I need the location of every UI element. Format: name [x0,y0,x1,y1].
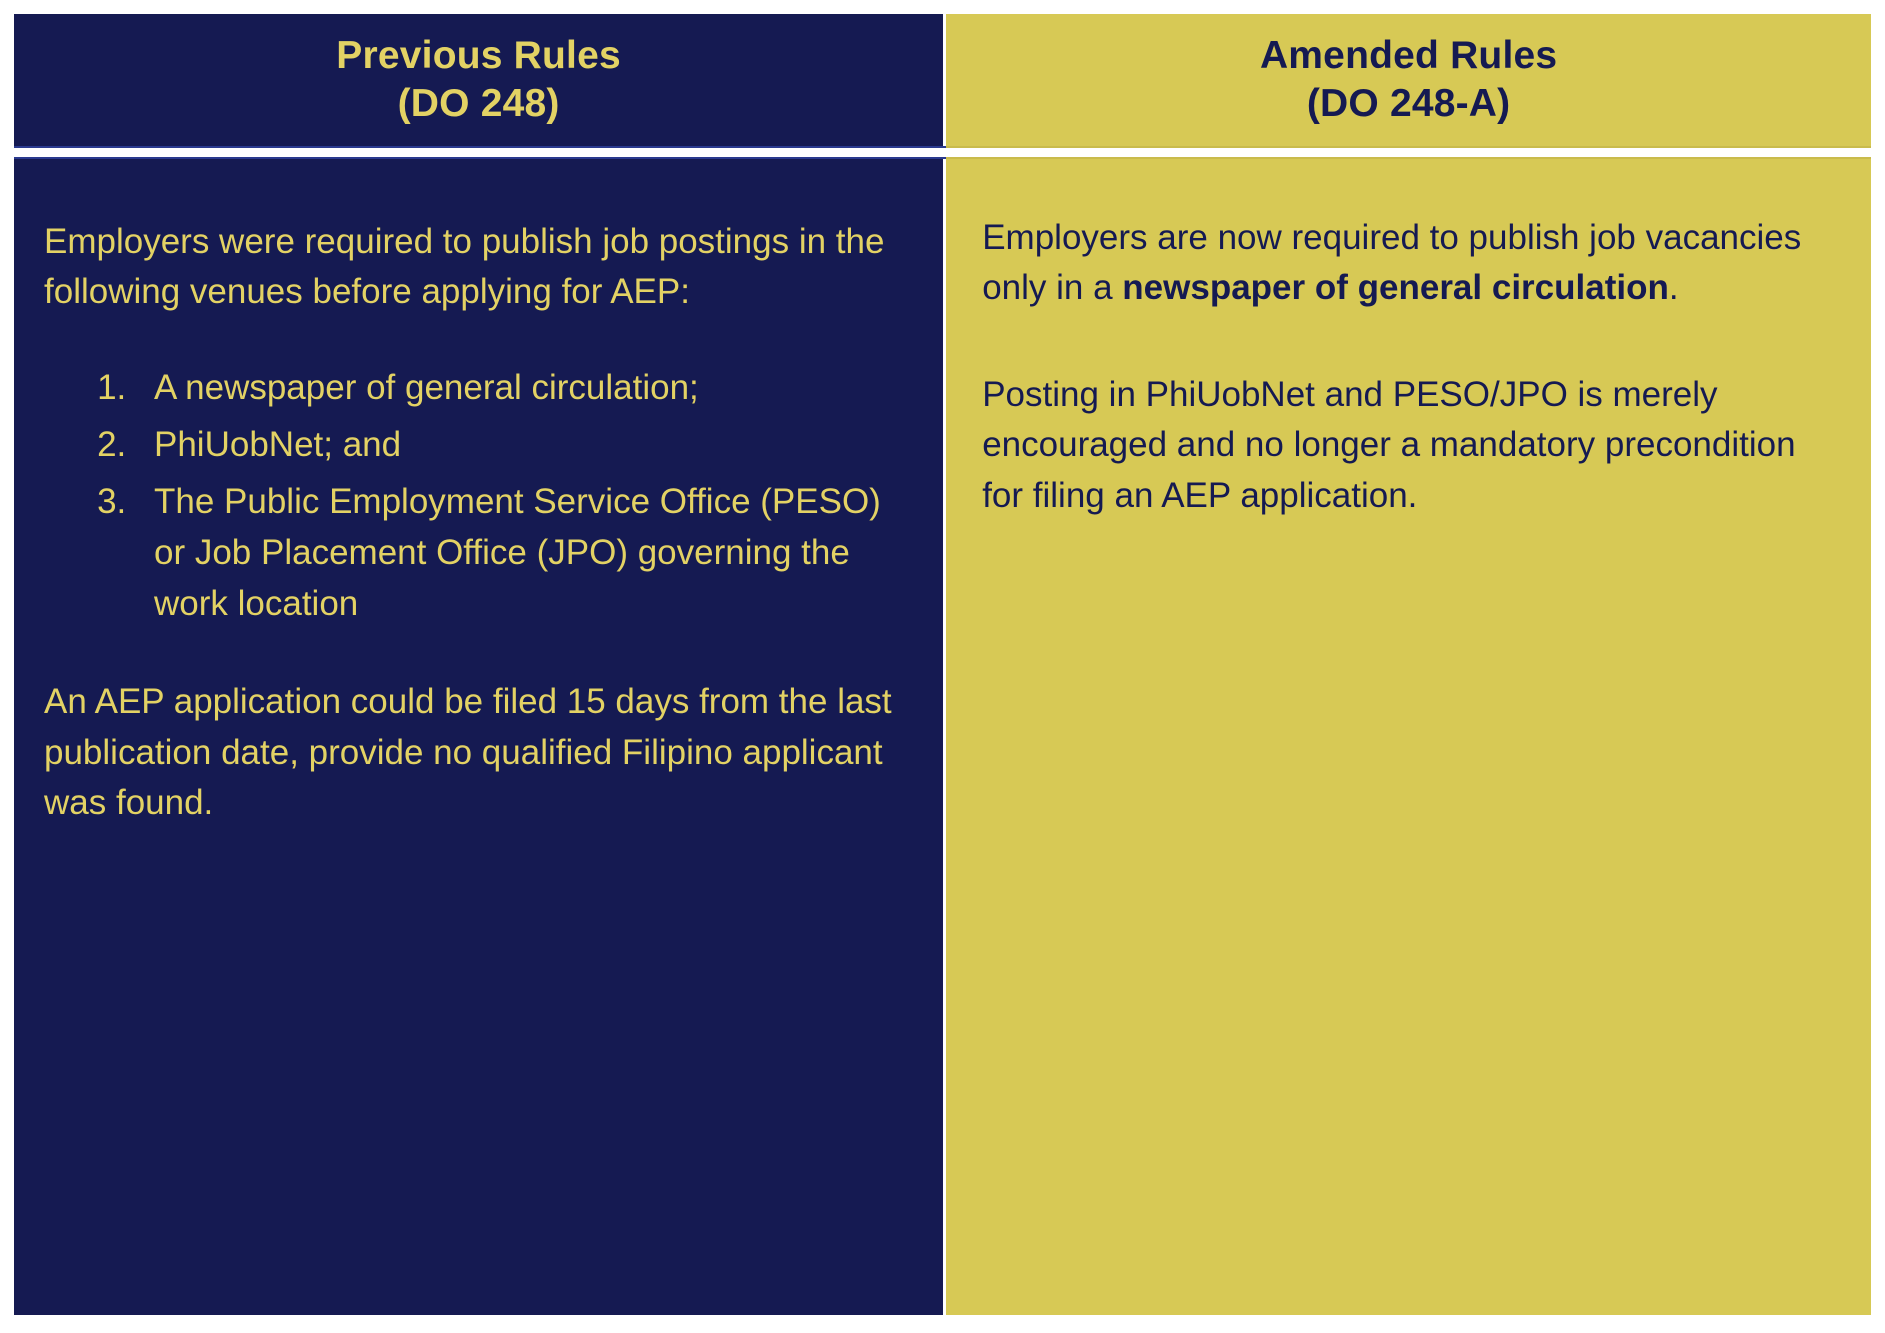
comparison-table-container: Previous Rules (DO 248) Amended Rules (D… [0,0,1885,1333]
list-item: PhiUobNet; and [136,419,909,470]
header-previous-title: Previous Rules [24,32,933,80]
header-body-separator-row [14,146,1871,159]
header-previous-subtitle: (DO 248) [24,80,933,128]
previous-rules-list: A newspaper of general circulation; PhiU… [44,362,909,629]
header-amended-rules: Amended Rules (DO 248-A) [946,14,1871,146]
cell-previous-rules: Employers were required to publish job p… [14,159,946,1315]
amended-paragraph-1: Employers are now required to publish jo… [982,213,1837,314]
list-item: A newspaper of general circulation; [136,362,909,413]
header-amended-subtitle: (DO 248-A) [956,80,1861,128]
table-body-row: Employers were required to publish job p… [14,159,1871,1315]
amended-paragraph-1-emphasis: newspaper of general circulation [1122,268,1669,307]
table-header-row: Previous Rules (DO 248) Amended Rules (D… [14,14,1871,146]
rules-comparison-table: Previous Rules (DO 248) Amended Rules (D… [14,14,1871,1315]
separator-previous [14,146,946,159]
header-amended-title: Amended Rules [956,32,1861,80]
separator-amended [946,146,1871,159]
amended-paragraph-2: Posting in PhiUobNet and PESO/JPO is mer… [982,370,1837,521]
cell-amended-rules: Employers are now required to publish jo… [946,159,1871,1315]
previous-closing-paragraph: An AEP application could be filed 15 day… [44,677,909,828]
header-previous-rules: Previous Rules (DO 248) [14,14,946,146]
previous-intro-paragraph: Employers were required to publish job p… [44,217,909,318]
amended-paragraph-1-tail: . [1669,268,1679,307]
list-item: The Public Employment Service Office (PE… [136,476,909,629]
